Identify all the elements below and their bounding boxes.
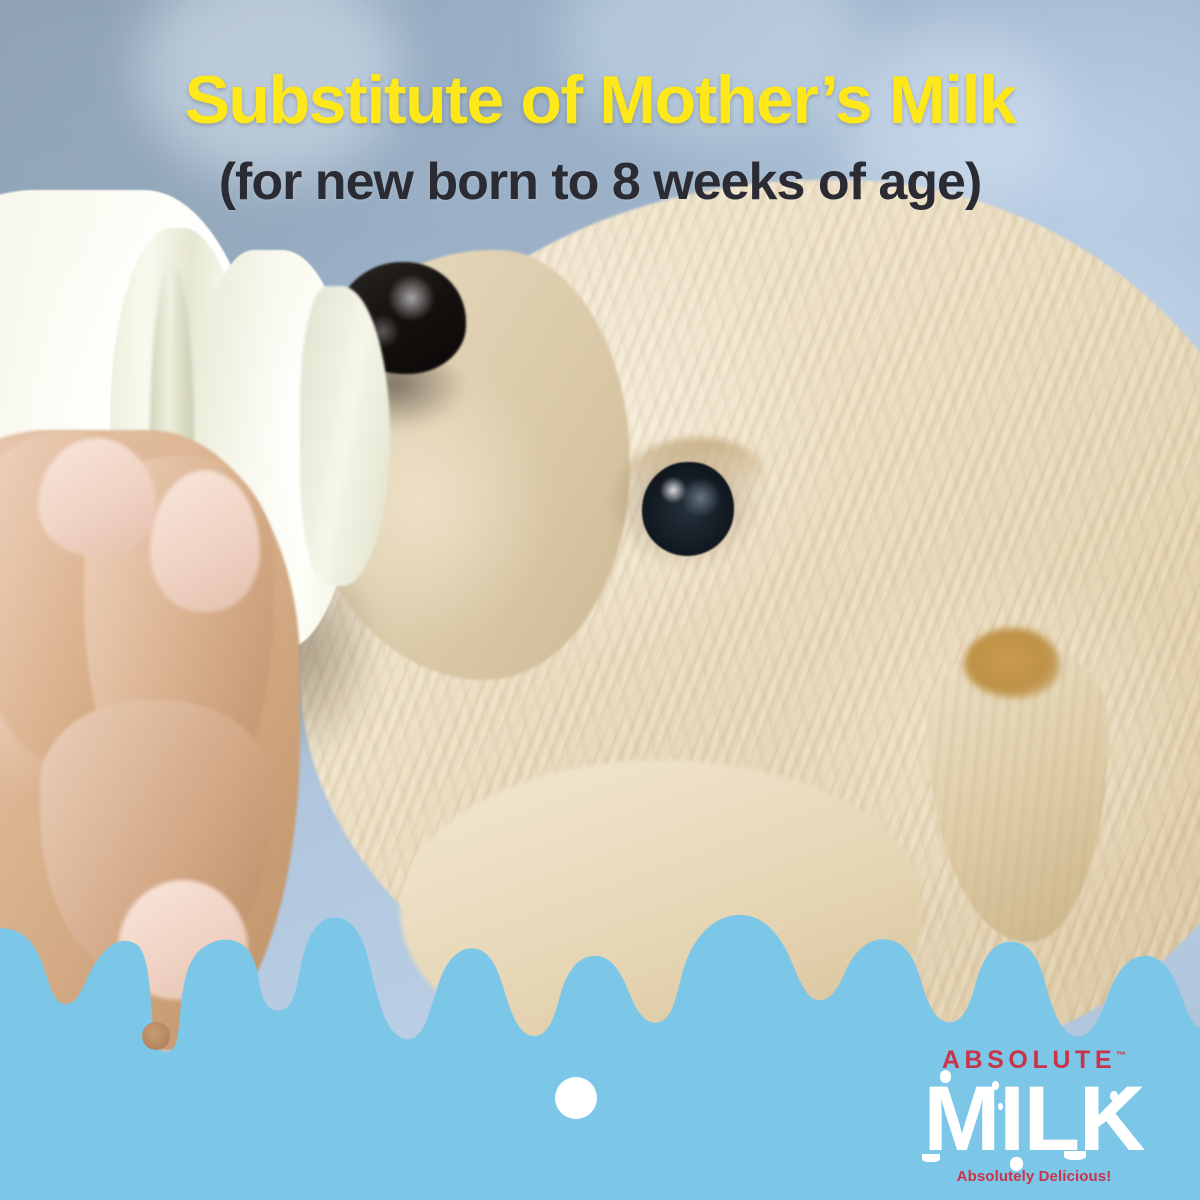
brand-logo[interactable]: ABSOLUTE™ MILK Absolutely Delicious! (914, 1048, 1154, 1184)
page-subtitle: (for new born to 8 weeks of age) (0, 156, 1200, 208)
milk-drop-white (555, 1077, 597, 1119)
poster-canvas: Substitute of Mother’s Milk (for new bor… (0, 0, 1200, 1200)
milk-splash-nub (1064, 1151, 1086, 1160)
puppy-ear-patch (964, 628, 1060, 698)
page-title: Substitute of Mother’s Milk (0, 66, 1200, 134)
logo-tagline: Absolutely Delicious! (914, 1169, 1154, 1184)
puppy-eye (642, 462, 734, 556)
logo-wordmark: MILK (914, 1077, 1154, 1162)
milk-drop-hole (142, 1022, 170, 1050)
milk-splash-nub (922, 1154, 940, 1162)
trademark-symbol: ™ (1116, 1051, 1126, 1062)
logo-wordmark-text: MILK (924, 1068, 1145, 1170)
